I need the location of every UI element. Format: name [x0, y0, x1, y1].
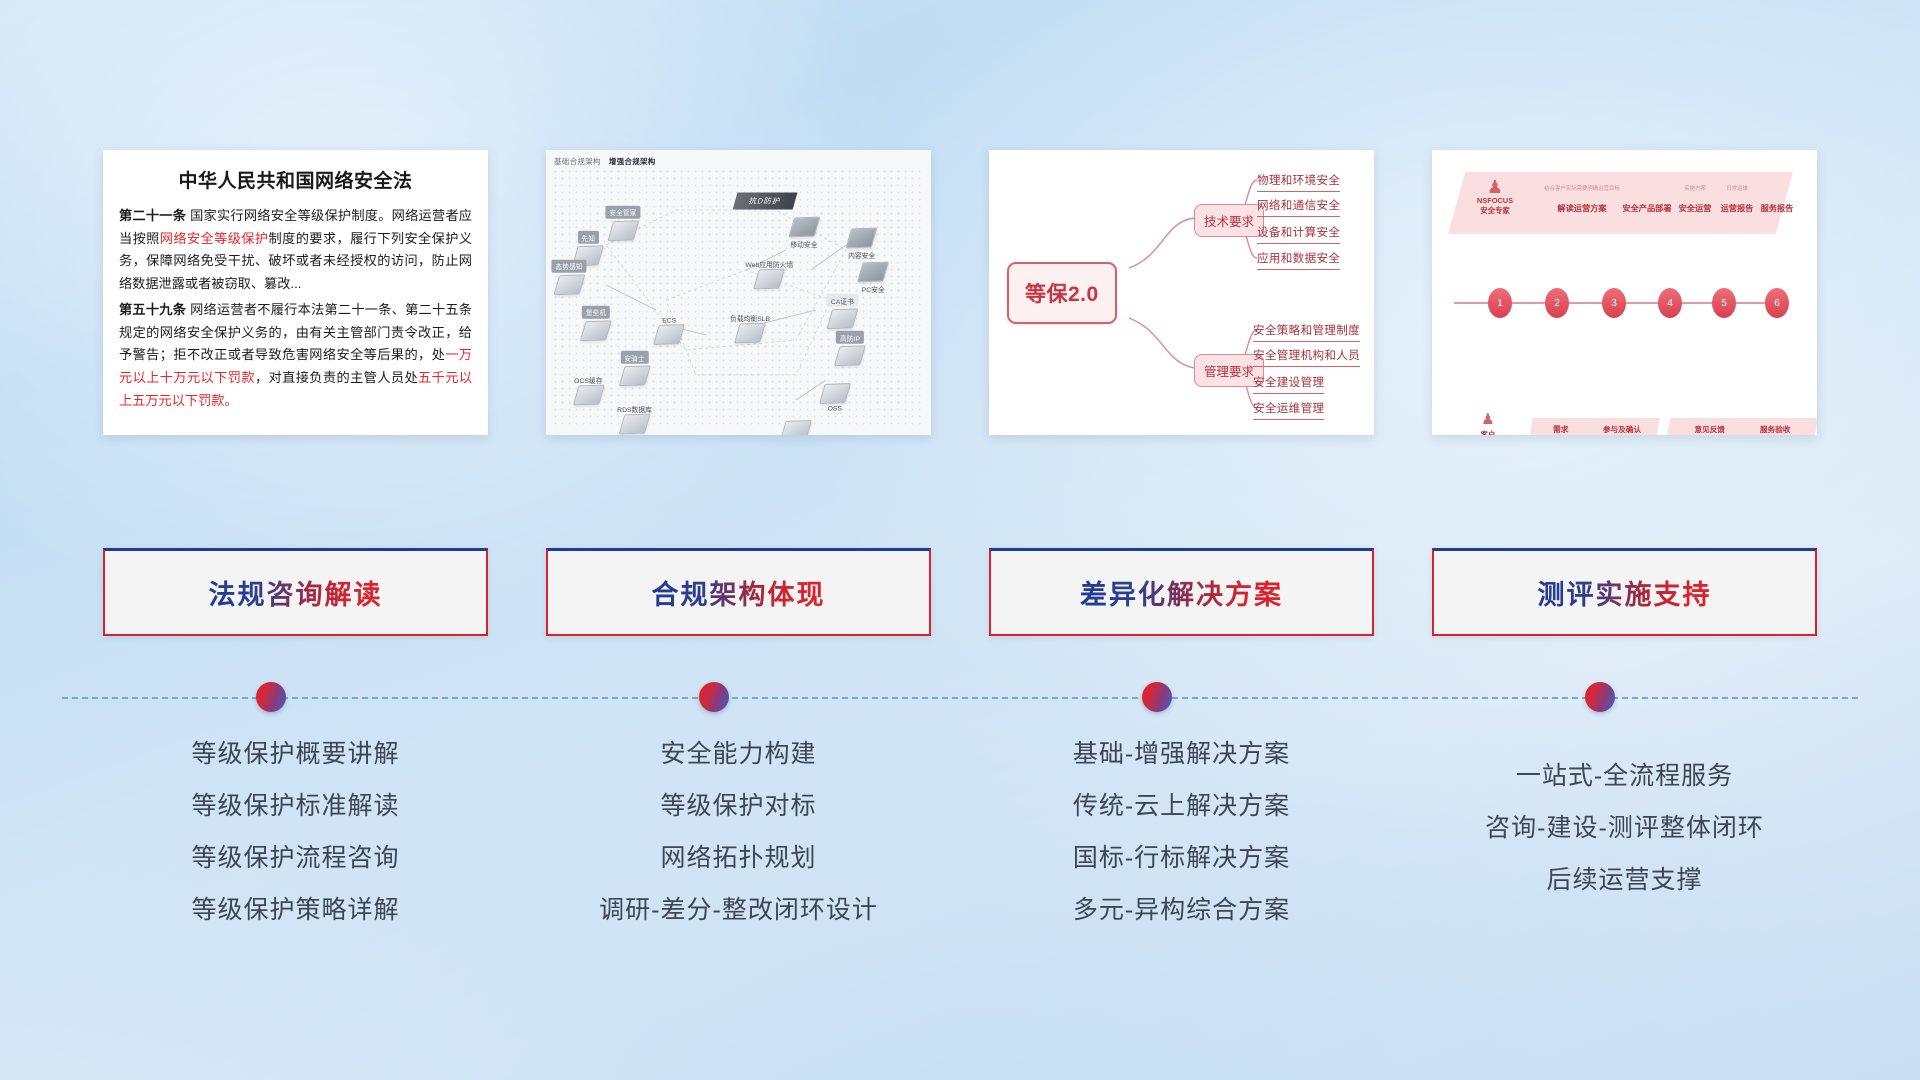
list-item: 等级保护标准解读	[191, 794, 399, 819]
list-item: 安全能力构建	[660, 742, 816, 767]
card-compliance-architecture: 基础合规架构 增强合规架构 抗D防护 安全管家 先知 态势感知 堡垒机	[546, 150, 931, 435]
architecture-node: Web应用防火墙	[745, 257, 793, 289]
architecture-node: 内容安全	[848, 228, 875, 260]
list-item: 一站式-全流程服务	[1516, 764, 1733, 789]
list-item: 后续运营支撑	[1546, 868, 1702, 893]
mindmap-leaf: 网络和通信安全	[1257, 197, 1340, 217]
feature-list-compliance-architecture: 安全能力构建 等级保护对标 网络拓扑规划 调研-差分-整改闭环设计	[546, 742, 931, 1022]
cube-icon	[553, 274, 585, 295]
architecture-node: PC安全	[860, 262, 886, 294]
architecture-node-caption: 移动安全	[790, 239, 817, 249]
mindmap-leaf: 设备和计算安全	[1257, 224, 1340, 244]
timeline-dot-1[interactable]	[256, 682, 286, 712]
architecture-node-tag: CA证书	[827, 294, 858, 307]
nsfocus-step-sub: 日常运维	[1726, 184, 1748, 192]
reference-cards-row: 中华人民共和国网络安全法 第二十一条 国家实行网络安全等级保护制度。网络运营者应…	[0, 150, 1920, 445]
nsfocus-expert-block: ♟ NSFOCUS 安全专家	[1464, 178, 1526, 216]
cube-icon	[819, 383, 851, 404]
nsfocus-step-title: 运营报告	[1721, 202, 1754, 214]
mindmap-leaf: 物理和环境安全	[1257, 172, 1340, 192]
architecture-node: OSS	[822, 383, 848, 412]
architecture-node: 态势感知	[552, 256, 587, 295]
list-item: 等级保护概要讲解	[191, 742, 399, 767]
list-item: 咨询-建设-测评整体闭环	[1485, 816, 1764, 841]
architecture-node: 堡垒机	[582, 302, 610, 341]
cube-icon	[580, 320, 612, 341]
law-text-seg: ，对直接负责的主管人员处	[255, 370, 418, 385]
architecture-node-tag: 先知	[578, 231, 600, 244]
nsfocus-expert-role: 安全专家	[1464, 206, 1526, 216]
cube-icon	[846, 228, 878, 249]
law-paragraph-2: 第五十九条 网络运营者不履行本法第二十一条、第二十五条规定的网络安全保护义务的，…	[119, 299, 472, 413]
nsfocus-step-number: 5	[1712, 288, 1736, 318]
law-paragraph-1: 第二十一条 国家实行网络安全等级保护制度。网络运营者应当按照网络安全等级保护制度…	[119, 205, 472, 296]
cube-icon	[607, 220, 639, 241]
list-item: 国标-行标解决方案	[1073, 846, 1290, 871]
cube-icon	[572, 385, 604, 406]
architecture-banner: 抗D防护	[733, 193, 798, 210]
list-item: 等级保护流程咨询	[191, 846, 399, 871]
architecture-node-caption: Web应用防火墙	[745, 259, 793, 269]
timeline-dot-2[interactable]	[699, 682, 729, 712]
heading-box-regulation-consulting[interactable]: 法规咨询解读	[103, 548, 488, 636]
heading-label: 合规架构体现	[652, 573, 826, 612]
cube-icon	[619, 413, 651, 434]
nsfocus-bottom-title: 参与及确认	[1596, 424, 1648, 435]
architecture-node: 移动安全	[790, 217, 817, 249]
section-headings-row: 法规咨询解读 合规架构体现 差异化解决方案 测评实施支持	[0, 548, 1920, 636]
timeline-dot-3[interactable]	[1142, 682, 1172, 712]
nsfocus-step-sub: 实施方案	[1684, 184, 1706, 192]
architecture-node: VPC	[783, 421, 809, 436]
nsfocus-step-title: 安全产品部署	[1622, 202, 1671, 214]
architecture-node-caption: ECS	[656, 317, 682, 324]
nsfocus-step-title: 安全运营	[1679, 202, 1712, 214]
nsfocus-step-title: 服务报告	[1761, 202, 1794, 214]
mindmap-leaf: 安全建设管理	[1253, 374, 1324, 394]
mindmap-branch-technical: 技术要求	[1194, 204, 1264, 237]
mindmap-root-node: 等保2.0	[1007, 262, 1117, 324]
architecture-node-caption: OSS	[822, 405, 848, 412]
cube-icon	[826, 308, 858, 329]
list-item: 网络拓扑规划	[660, 846, 816, 871]
architecture-node-caption: 负载均衡SLB	[730, 313, 770, 323]
law-text-highlight: 网络安全等级保护	[160, 231, 269, 246]
cube-icon	[734, 322, 766, 343]
nsfocus-bottom-title: 服务验收	[1744, 424, 1806, 435]
architecture-node-caption: 内容安全	[848, 250, 875, 260]
person-icon: ♟	[1464, 178, 1526, 196]
nsfocus-bottom-title: 需求	[1540, 424, 1582, 435]
architecture-node: 高防IP	[836, 327, 864, 366]
cube-icon	[753, 268, 785, 289]
cube-icon	[788, 216, 820, 237]
architecture-node-tag: 安全管家	[605, 206, 640, 219]
customer-icon: ♟	[1460, 412, 1516, 427]
nsfocus-bottom-step: 参与及确认 客户参与确认运营目标	[1584, 418, 1660, 435]
architecture-node-tag: 态势感知	[552, 260, 587, 273]
nsfocus-bottom-title: 意见反馈	[1676, 424, 1743, 435]
nsfocus-step-number: 2	[1545, 288, 1569, 318]
architecture-node-tag: 高防IP	[836, 331, 864, 344]
heading-box-evaluation-support[interactable]: 测评实施支持	[1432, 548, 1817, 636]
architecture-node: ECS	[656, 315, 682, 344]
nsfocus-step-sub: 结合客户实际需要明确运营目标	[1544, 184, 1619, 192]
nsfocus-step-number: 3	[1602, 288, 1626, 318]
mindmap-leaf: 安全管理机构和人员	[1253, 347, 1360, 367]
law-title: 中华人民共和国网络安全法	[119, 166, 472, 193]
nsfocus-bottom-step: 服务验收 客户验收安全运营服务成果	[1732, 418, 1817, 435]
cube-icon	[619, 365, 651, 386]
list-item: 等级保护策略详解	[191, 898, 399, 923]
architecture-node-caption: RDS数据库	[617, 404, 652, 414]
feature-list-differentiated-solution: 基础-增强解决方案 传统-云上解决方案 国标-行标解决方案 多元-异构综合方案	[989, 742, 1374, 1022]
mindmap-leaf: 安全运维管理	[1253, 400, 1324, 420]
list-item: 多元-异构综合方案	[1073, 898, 1290, 923]
nsfocus-step-title: 解读运营方案	[1557, 202, 1606, 214]
timeline-dot-4[interactable]	[1585, 682, 1615, 712]
cube-icon	[653, 324, 685, 345]
heading-label: 差异化解决方案	[1080, 573, 1283, 612]
nsfocus-step-number: 4	[1658, 288, 1682, 318]
nsfocus-customer-label: 客户	[1460, 429, 1516, 435]
architecture-node: 安骑士	[620, 347, 648, 386]
heading-box-compliance-architecture[interactable]: 合规架构体现	[546, 548, 931, 636]
architecture-node: 安全管家	[605, 202, 640, 241]
nsfocus-expert-name: NSFOCUS	[1464, 196, 1526, 206]
architecture-node-tag: 堡垒机	[582, 305, 610, 318]
architecture-node: CA证书	[827, 290, 858, 329]
cube-icon	[857, 262, 889, 283]
list-item: 基础-增强解决方案	[1073, 742, 1290, 767]
heading-label: 测评实施支持	[1538, 573, 1712, 612]
nsfocus-step-number: 1	[1488, 288, 1512, 318]
law-article-lead: 第二十一条	[119, 208, 186, 223]
card-cybersecurity-law: 中华人民共和国网络安全法 第二十一条 国家实行网络安全等级保护制度。网络运营者应…	[103, 150, 488, 435]
law-article-lead: 第五十九条	[119, 302, 186, 317]
nsfocus-bottom-step: 需求 安全合规需求提出	[1528, 418, 1594, 435]
list-item: 传统-云上解决方案	[1073, 794, 1290, 819]
card-nsfocus-service-flow: ♟ NSFOCUS 安全专家 结合客户实际需要明确运营目标 解读运营方案 安全产…	[1432, 150, 1817, 435]
list-item: 调研-差分-整改闭环设计	[599, 898, 878, 923]
cube-icon	[834, 345, 866, 366]
architecture-node-caption: PC安全	[860, 284, 886, 294]
heading-box-differentiated-solution[interactable]: 差异化解决方案	[989, 548, 1374, 636]
cube-icon	[780, 420, 812, 435]
nsfocus-customer-block: ♟ 客户 安全合规需求	[1460, 412, 1516, 435]
feature-lists-row: 等级保护概要讲解 等级保护标准解读 等级保护流程咨询 等级保护策略详解 安全能力…	[0, 742, 1920, 1022]
feature-list-regulation-consulting: 等级保护概要讲解 等级保护标准解读 等级保护流程咨询 等级保护策略详解	[103, 742, 488, 1022]
nsfocus-step-number: 6	[1765, 288, 1789, 318]
heading-label: 法规咨询解读	[209, 573, 383, 612]
architecture-node: OCS缓存	[574, 373, 602, 405]
architecture-node-tag: 安骑士	[620, 351, 648, 364]
list-item: 等级保护对标	[660, 794, 816, 819]
architecture-node: 负载均衡SLB	[730, 311, 770, 343]
card-mindmap-dengbao: 等保2.0 技术要求 物理和环境安全 网络和通信安全 设备和计算安全 应用和数据…	[989, 150, 1374, 435]
feature-list-evaluation-support: 一站式-全流程服务 咨询-建设-测评整体闭环 后续运营支撑	[1432, 742, 1817, 1022]
mindmap-leaf: 应用和数据安全	[1257, 250, 1340, 270]
architecture-node: RDS数据库	[617, 402, 652, 434]
mindmap-leaf: 安全策略和管理制度	[1253, 322, 1360, 342]
